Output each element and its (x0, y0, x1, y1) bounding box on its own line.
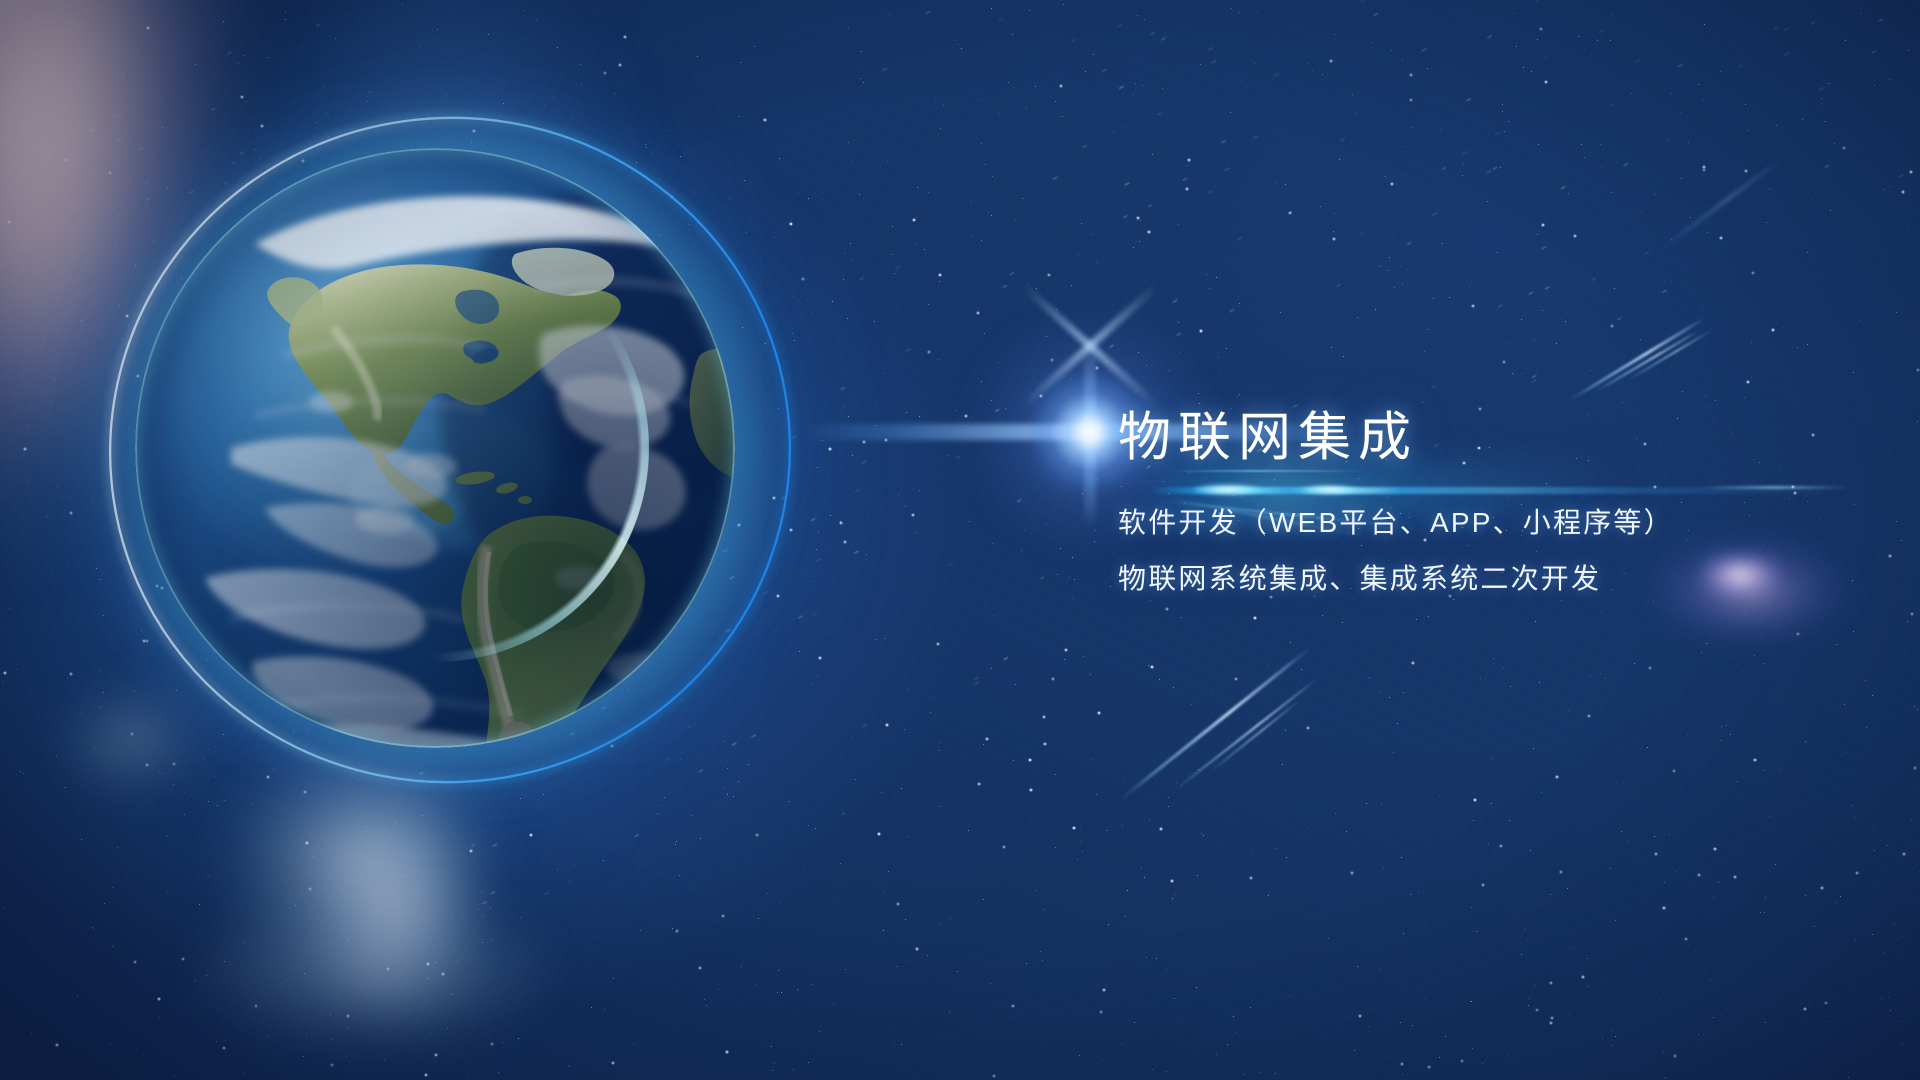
banner-copy: 物联网集成 软件开发（WEB平台、APP、小程序等） 物联网系统集成、集成系统二… (1118, 410, 1878, 594)
page-title: 物联网集成 (1118, 410, 1878, 466)
earth-globe (135, 148, 735, 748)
banner-subtitle-1: 软件开发（WEB平台、APP、小程序等） (1118, 507, 1878, 538)
hero-banner: 物联网集成 软件开发（WEB平台、APP、小程序等） 物联网系统集成、集成系统二… (0, 0, 1920, 1080)
globe-sphere (135, 148, 735, 748)
banner-subtitle-2: 物联网系统集成、集成系统二次开发 (1118, 563, 1878, 594)
globe-surface (135, 148, 735, 748)
star-layer (0, 0, 5, 2)
